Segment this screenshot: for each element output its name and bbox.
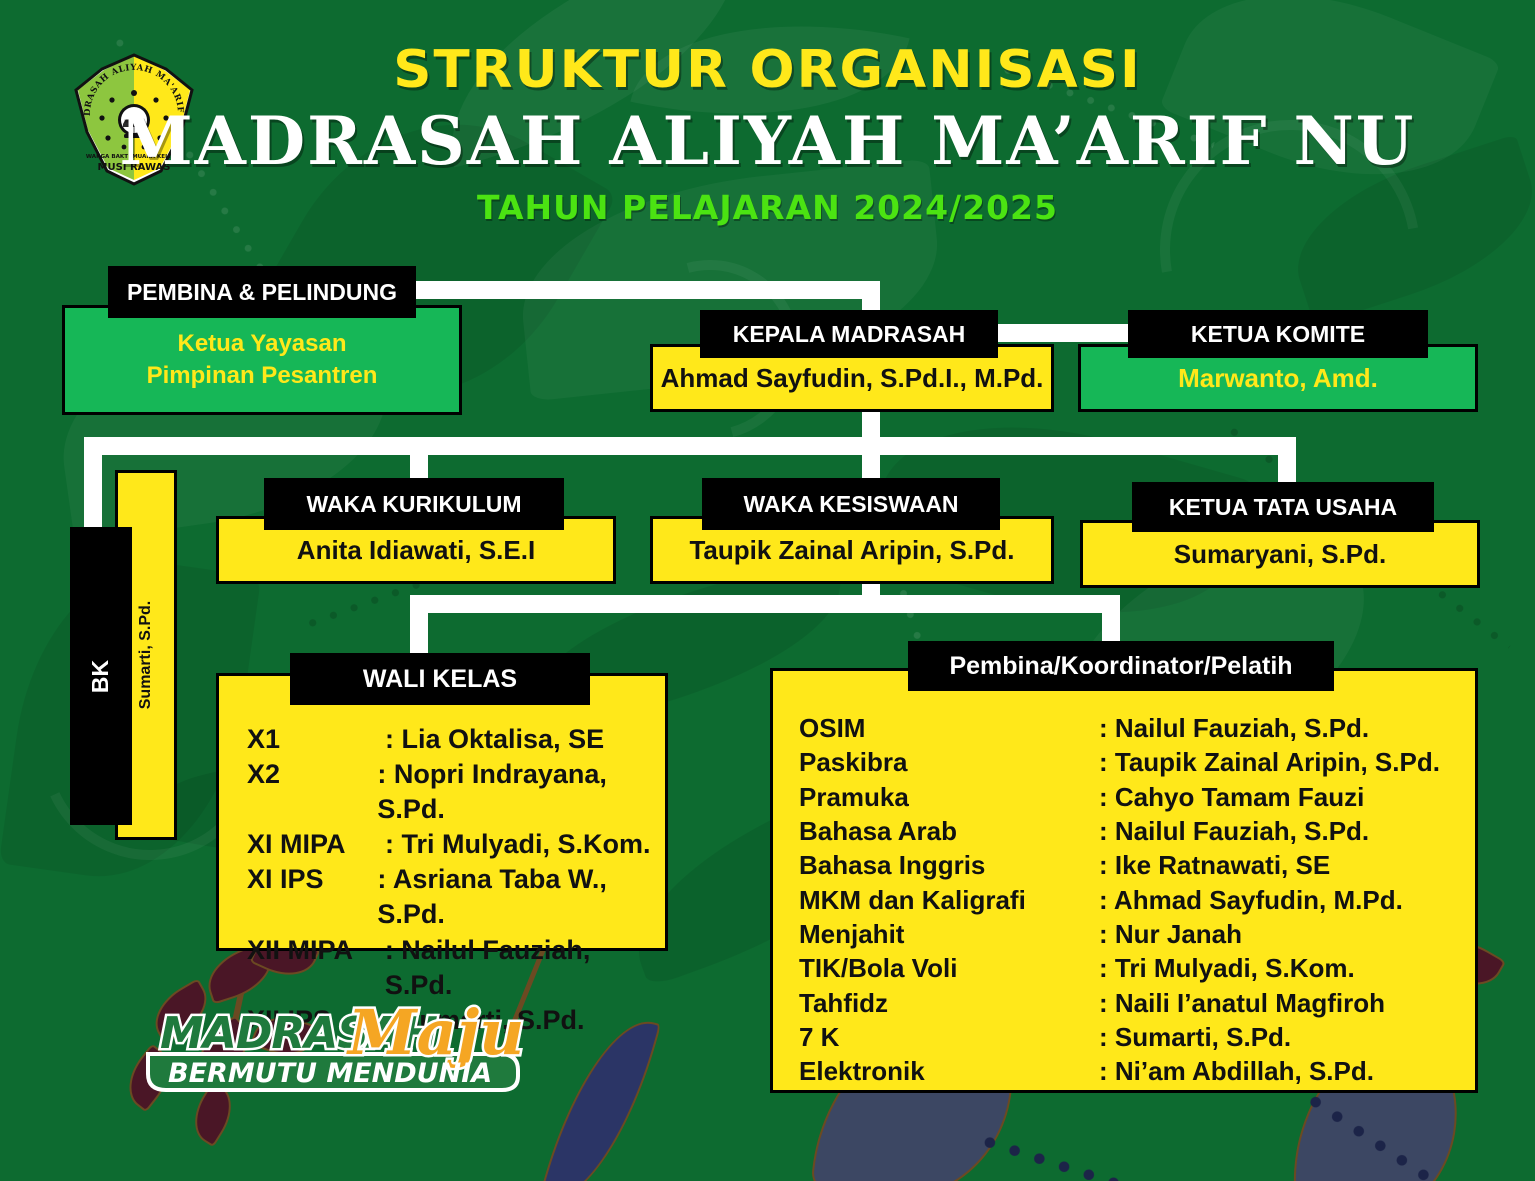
wali-kelas-row-kelas: X2	[247, 757, 377, 827]
pembina-koordinator-row: 7 K: Sumarti, S.Pd.	[799, 1020, 1475, 1054]
pembina-koordinator-row-bidang: Tahfidz	[799, 986, 1099, 1020]
pembina-koordinator-row-bidang: OSIM	[799, 711, 1099, 745]
wali-kelas-row: XI IPS: Asriana Taba W., S.Pd.	[247, 862, 665, 932]
pembina-koordinator-row-bidang: Elektronik	[799, 1054, 1099, 1088]
madrasah-maju-logo: MADRASAH Maju BERMUTU MENDUNIA	[140, 992, 540, 1092]
pembina-koordinator-row-nama: : Ahmad Sayfudin, M.Pd.	[1099, 883, 1403, 917]
maju-tagline-text: BERMUTU MENDUNIA	[168, 1058, 492, 1089]
node-wali-kelas-header: WALI KELAS	[290, 653, 590, 705]
connector-pembina-koordinator-drop	[1102, 595, 1120, 647]
pembina-koordinator-row-nama: : Naili I’anatul Magfiroh	[1099, 986, 1385, 1020]
pembina-koordinator-pelatih-rows: OSIM: Nailul Fauziah, S.Pd.Paskibra: Tau…	[799, 711, 1475, 1088]
pembina-koordinator-row-nama: : Sumarti, S.Pd.	[1099, 1020, 1291, 1054]
connector-row3-bus	[410, 595, 1120, 613]
node-pembina-pelindung-body: Ketua Yayasan Pimpinan Pesantren	[62, 305, 462, 415]
node-ketua-tata-usaha-header: KETUA TATA USAHA	[1132, 482, 1434, 532]
pembina-koordinator-row: Tahfidz: Naili I’anatul Magfiroh	[799, 986, 1475, 1020]
wali-kelas-row-nama: : Asriana Taba W., S.Pd.	[377, 862, 665, 932]
node-waka-kesiswaan-header: WAKA KESISWAAN	[702, 478, 1000, 530]
pembina-koordinator-row: Bahasa Inggris: Ike Ratnawati, SE	[799, 848, 1475, 882]
wali-kelas-row: X1: Lia Oktalisa, SE	[247, 722, 665, 757]
pembina-koordinator-row-bidang: MKM dan Kaligrafi	[799, 883, 1099, 917]
pembina-koordinator-row: MKM dan Kaligrafi: Ahmad Sayfudin, M.Pd.	[799, 883, 1475, 917]
poster-title-block: STRUKTUR ORGANISASI MADRASAH ALIYAH MA’A…	[0, 40, 1535, 227]
pembina-koordinator-row: Elektronik: Ni’am Abdillah, S.Pd.	[799, 1054, 1475, 1088]
title-line-1: STRUKTUR ORGANISASI	[0, 40, 1535, 100]
wali-kelas-rows: X1: Lia Oktalisa, SEX2: Nopri Indrayana,…	[247, 722, 665, 1038]
pembina-koordinator-row: OSIM: Nailul Fauziah, S.Pd.	[799, 711, 1475, 745]
pembina-koordinator-row-nama: : Nailul Fauziah, S.Pd.	[1099, 711, 1369, 745]
pembina-koordinator-row-bidang: TIK/Bola Voli	[799, 951, 1099, 985]
wali-kelas-row-kelas: XI MIPA	[247, 827, 385, 862]
wali-kelas-row: XI MIPA: Tri Mulyadi, S.Kom.	[247, 827, 665, 862]
pembina-koordinator-row-bidang: 7 K	[799, 1020, 1099, 1054]
pembina-koordinator-row-bidang: Menjahit	[799, 917, 1099, 951]
pembina-koordinator-row-bidang: Paskibra	[799, 745, 1099, 779]
pembina-koordinator-row-nama: : Nur Janah	[1099, 917, 1242, 951]
pembina-koordinator-row-bidang: Bahasa Inggris	[799, 848, 1099, 882]
pembina-pelindung-line2: Pimpinan Pesantren	[147, 360, 378, 392]
pembina-koordinator-row-nama: : Cahyo Tamam Fauzi	[1099, 780, 1364, 814]
wali-kelas-row-kelas: XI IPS	[247, 862, 377, 932]
node-bk-header: BK	[70, 527, 132, 825]
node-pembina-koordinator-pelatih-header: Pembina/Koordinator/Pelatih	[908, 641, 1334, 691]
organization-chart-poster: MADRASAH ALIYAH MA'ARIF NU WARGA BAKTI M…	[0, 0, 1535, 1181]
wali-kelas-row-nama: : Lia Oktalisa, SE	[385, 722, 604, 757]
node-ketua-komite-header: KETUA KOMITE	[1128, 310, 1428, 358]
pembina-koordinator-row-bidang: Pramuka	[799, 780, 1099, 814]
wali-kelas-row-nama: : Nopri Indrayana, S.Pd.	[377, 757, 665, 827]
pembina-koordinator-row: Pramuka: Cahyo Tamam Fauzi	[799, 780, 1475, 814]
pembina-koordinator-row: Menjahit: Nur Janah	[799, 917, 1475, 951]
pembina-koordinator-row-nama: : Tri Mulyadi, S.Kom.	[1099, 951, 1355, 985]
title-line-3: TAHUN PELAJARAN 2024/2025	[0, 188, 1535, 227]
node-kepala-madrasah-header: KEPALA MADRASAH	[700, 310, 998, 358]
connector-kepala-to-komite	[998, 324, 1138, 342]
pembina-pelindung-line1: Ketua Yayasan	[178, 328, 347, 360]
pembina-koordinator-row: Paskibra: Taupik Zainal Aripin, S.Pd.	[799, 745, 1475, 779]
node-pembina-pelindung-header: PEMBINA & PELINDUNG	[108, 266, 416, 318]
wali-kelas-row: X2: Nopri Indrayana, S.Pd.	[247, 757, 665, 827]
wali-kelas-row-kelas: X1	[247, 722, 385, 757]
pembina-koordinator-row-nama: : Nailul Fauziah, S.Pd.	[1099, 814, 1369, 848]
connector-bk-drop	[84, 437, 102, 527]
node-waka-kurikulum-header: WAKA KURIKULUM	[264, 478, 564, 530]
pembina-koordinator-row: TIK/Bola Voli: Tri Mulyadi, S.Kom.	[799, 951, 1475, 985]
bk-name: Sumarti, S.Pd.	[137, 601, 155, 709]
connector-pembina-to-kepala	[410, 281, 880, 299]
pembina-koordinator-row-nama: : Ike Ratnawati, SE	[1099, 848, 1330, 882]
pembina-koordinator-row: Bahasa Arab: Nailul Fauziah, S.Pd.	[799, 814, 1475, 848]
node-pembina-koordinator-pelatih-body: OSIM: Nailul Fauziah, S.Pd.Paskibra: Tau…	[770, 668, 1478, 1093]
pembina-koordinator-row-nama: : Taupik Zainal Aripin, S.Pd.	[1099, 745, 1440, 779]
connector-row2-bus	[84, 437, 1296, 455]
pembina-koordinator-row-nama: : Ni’am Abdillah, S.Pd.	[1099, 1054, 1374, 1088]
pembina-koordinator-row-bidang: Bahasa Arab	[799, 814, 1099, 848]
wali-kelas-row-nama: : Tri Mulyadi, S.Kom.	[385, 827, 651, 862]
node-wali-kelas-body: X1: Lia Oktalisa, SEX2: Nopri Indrayana,…	[216, 673, 668, 951]
title-line-2: MADRASAH ALIYAH MA’ARIF NU	[0, 102, 1535, 180]
